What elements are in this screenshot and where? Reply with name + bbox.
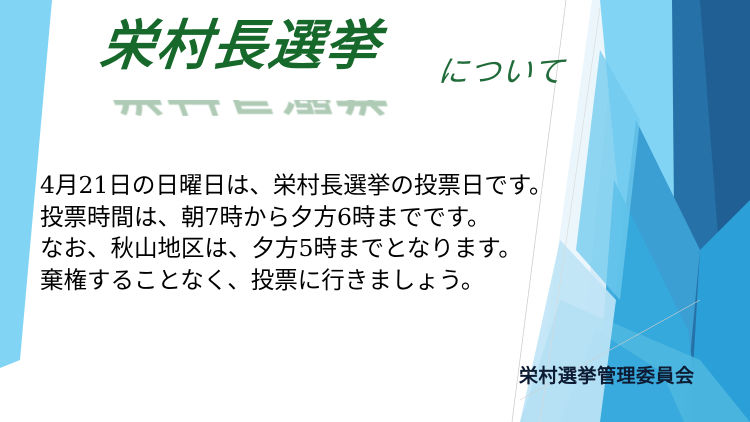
slide-canvas: 栄村長選挙 について 栄村長選挙 について 4月21日の日曜日は、栄村長選挙の投… [0,0,750,422]
body-line-1: 4月21日の日曜日は、栄村長選挙の投票日です。 [40,170,600,202]
body-line-3: なお、秋山地区は、夕方5時までとなります。 [40,233,600,265]
slide-title-suffix: について [436,46,567,91]
slide-footer-attribution: 栄村選挙管理委員会 [519,361,695,388]
body-line-2: 投票時間は、朝7時から夕方6時までです。 [40,202,600,234]
slide-body-text: 4月21日の日曜日は、栄村長選挙の投票日です。 投票時間は、朝7時から夕方6時ま… [40,170,600,296]
slide-title-main: 栄村長選挙 [98,18,384,72]
body-line-4: 棄権することなく、投票に行きましょう。 [40,265,600,297]
slide-title-group: 栄村長選挙 について [98,18,578,146]
